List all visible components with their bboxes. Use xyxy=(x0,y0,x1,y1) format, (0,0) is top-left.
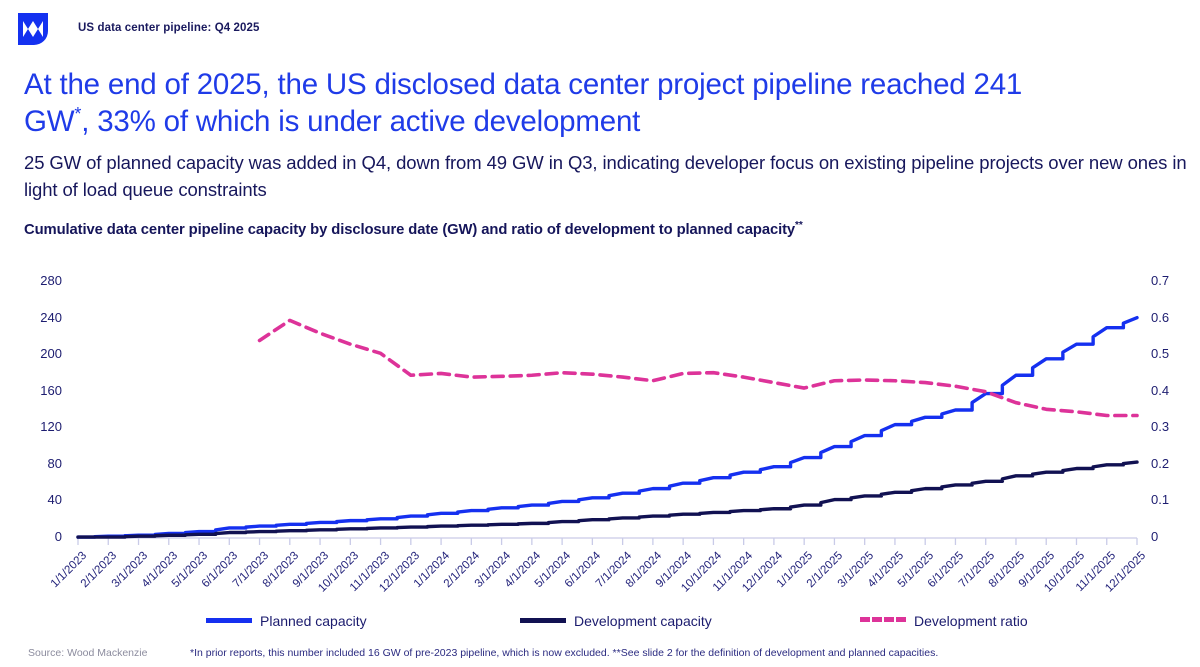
right-axis-tick-0: 0 xyxy=(1151,529,1158,544)
legend-swatch-solid xyxy=(206,618,252,623)
chart-plot-svg xyxy=(0,262,1200,562)
chart-legend: Planned capacityDevelopment capacityDeve… xyxy=(0,612,1200,640)
series-line-development-capacity xyxy=(78,462,1137,537)
left-axis-tick-280: 280 xyxy=(10,273,62,288)
right-axis-tick-0-1: 0.1 xyxy=(1151,492,1169,507)
series-line-planned-capacity xyxy=(78,318,1137,537)
legend-label: Planned capacity xyxy=(260,613,367,629)
source-label: Source: Wood Mackenzie xyxy=(28,647,147,659)
footnotes: *In prior reports, this number included … xyxy=(190,647,938,659)
chart-series-layer xyxy=(78,318,1137,537)
legend-item-development-capacity[interactable]: Development capacity xyxy=(520,612,712,632)
left-axis-tick-40: 40 xyxy=(10,492,62,507)
left-axis-tick-80: 80 xyxy=(10,456,62,471)
chart-title-double-asterisk: ** xyxy=(795,220,803,231)
left-axis-tick-0: 0 xyxy=(10,529,62,544)
legend-label: Development ratio xyxy=(914,613,1028,629)
legend-item-planned-capacity[interactable]: Planned capacity xyxy=(206,612,367,632)
header-title: US data center pipeline: Q4 2025 xyxy=(78,22,260,34)
right-axis-tick-0-7: 0.7 xyxy=(1151,273,1169,288)
headline-line-1: At the end of 2025, the US disclosed dat… xyxy=(24,68,1022,101)
chart-title: Cumulative data center pipeline capacity… xyxy=(24,222,1184,238)
right-axis-tick-0-3: 0.3 xyxy=(1151,419,1169,434)
legend-swatch-dashed xyxy=(860,617,906,622)
headline-line-2-pre: GW xyxy=(24,105,74,138)
series-line-development-ratio xyxy=(260,320,1137,415)
x-axis-tick-marks xyxy=(78,538,1137,545)
legend-label: Development capacity xyxy=(574,613,712,629)
chart-canvas: 04080120160200240280 00.10.20.30.40.50.6… xyxy=(0,262,1200,562)
right-axis-tick-0-4: 0.4 xyxy=(1151,383,1169,398)
chart-title-text: Cumulative data center pipeline capacity… xyxy=(24,222,795,238)
headline-line-2-post: , 33% of which is under active developme… xyxy=(81,105,640,138)
right-axis-tick-0-5: 0.5 xyxy=(1151,346,1169,361)
right-axis-tick-0-2: 0.2 xyxy=(1151,456,1169,471)
right-axis-tick-0-6: 0.6 xyxy=(1151,310,1169,325)
legend-item-development-ratio[interactable]: Development ratio xyxy=(860,612,1028,632)
page-subhead: 25 GW of planned capacity was added in Q… xyxy=(24,149,1189,203)
page-header: US data center pipeline: Q4 2025 xyxy=(0,0,1200,52)
legend-swatch-solid xyxy=(520,618,566,623)
left-axis-tick-120: 120 xyxy=(10,419,62,434)
page-headline: At the end of 2025, the US disclosed dat… xyxy=(24,66,1174,140)
left-axis-tick-160: 160 xyxy=(10,383,62,398)
page-footer: Source: Wood Mackenzie *In prior reports… xyxy=(0,645,1200,667)
wood-mackenzie-logo-icon xyxy=(18,13,48,45)
left-axis-tick-240: 240 xyxy=(10,310,62,325)
left-axis-tick-200: 200 xyxy=(10,346,62,361)
